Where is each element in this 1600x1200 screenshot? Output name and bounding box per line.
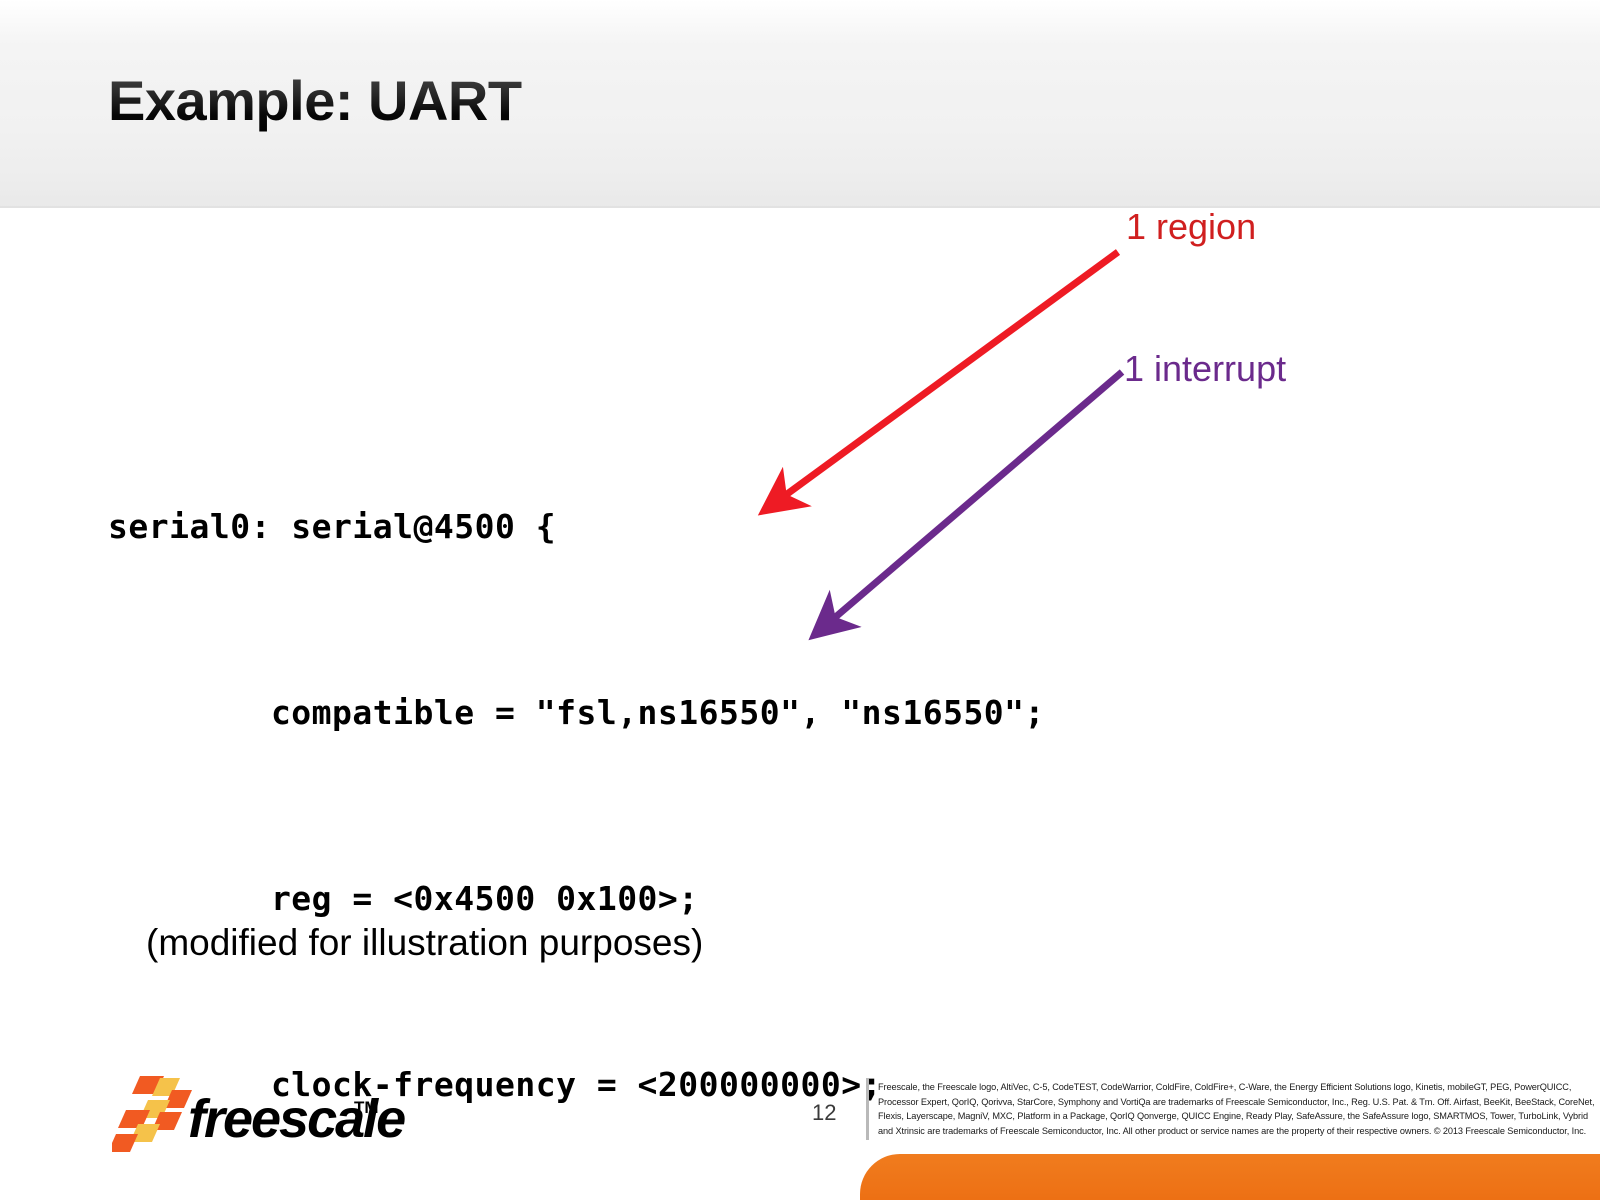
legal-line: and Xtrinsic are trademarks of Freescale… bbox=[878, 1124, 1538, 1139]
legal-line: Flexis, Layerscape, MagniV, MXC, Platfor… bbox=[878, 1109, 1538, 1124]
slide: Example: UART serial0: serial@4500 { com… bbox=[0, 0, 1600, 1200]
freescale-logo: freescale TM bbox=[112, 1068, 402, 1164]
code-line: compatible = "fsl,ns16550", "ns16550"; bbox=[108, 682, 1045, 744]
page-number: 12 bbox=[812, 1100, 836, 1126]
code-line: serial0: serial@4500 { bbox=[108, 496, 1045, 558]
legal-divider bbox=[866, 1078, 869, 1140]
legal-line: Freescale, the Freescale logo, AltiVec, … bbox=[878, 1080, 1538, 1095]
page-title: Example: UART bbox=[108, 68, 522, 133]
code-line: reg = <0x4500 0x100>; bbox=[108, 868, 1045, 930]
legal-line: Processor Expert, QorIQ, Qorivva, StarCo… bbox=[878, 1095, 1538, 1110]
header-divider bbox=[0, 206, 1600, 208]
annotation-label-region: 1 region bbox=[1126, 206, 1256, 248]
footer-accent-bar bbox=[860, 1154, 1600, 1200]
legal-text: Freescale, the Freescale logo, AltiVec, … bbox=[878, 1080, 1538, 1138]
trademark-symbol: TM bbox=[354, 1098, 379, 1118]
caption: (modified for illustration purposes) bbox=[146, 922, 703, 964]
annotation-label-interrupt: 1 interrupt bbox=[1124, 348, 1286, 390]
